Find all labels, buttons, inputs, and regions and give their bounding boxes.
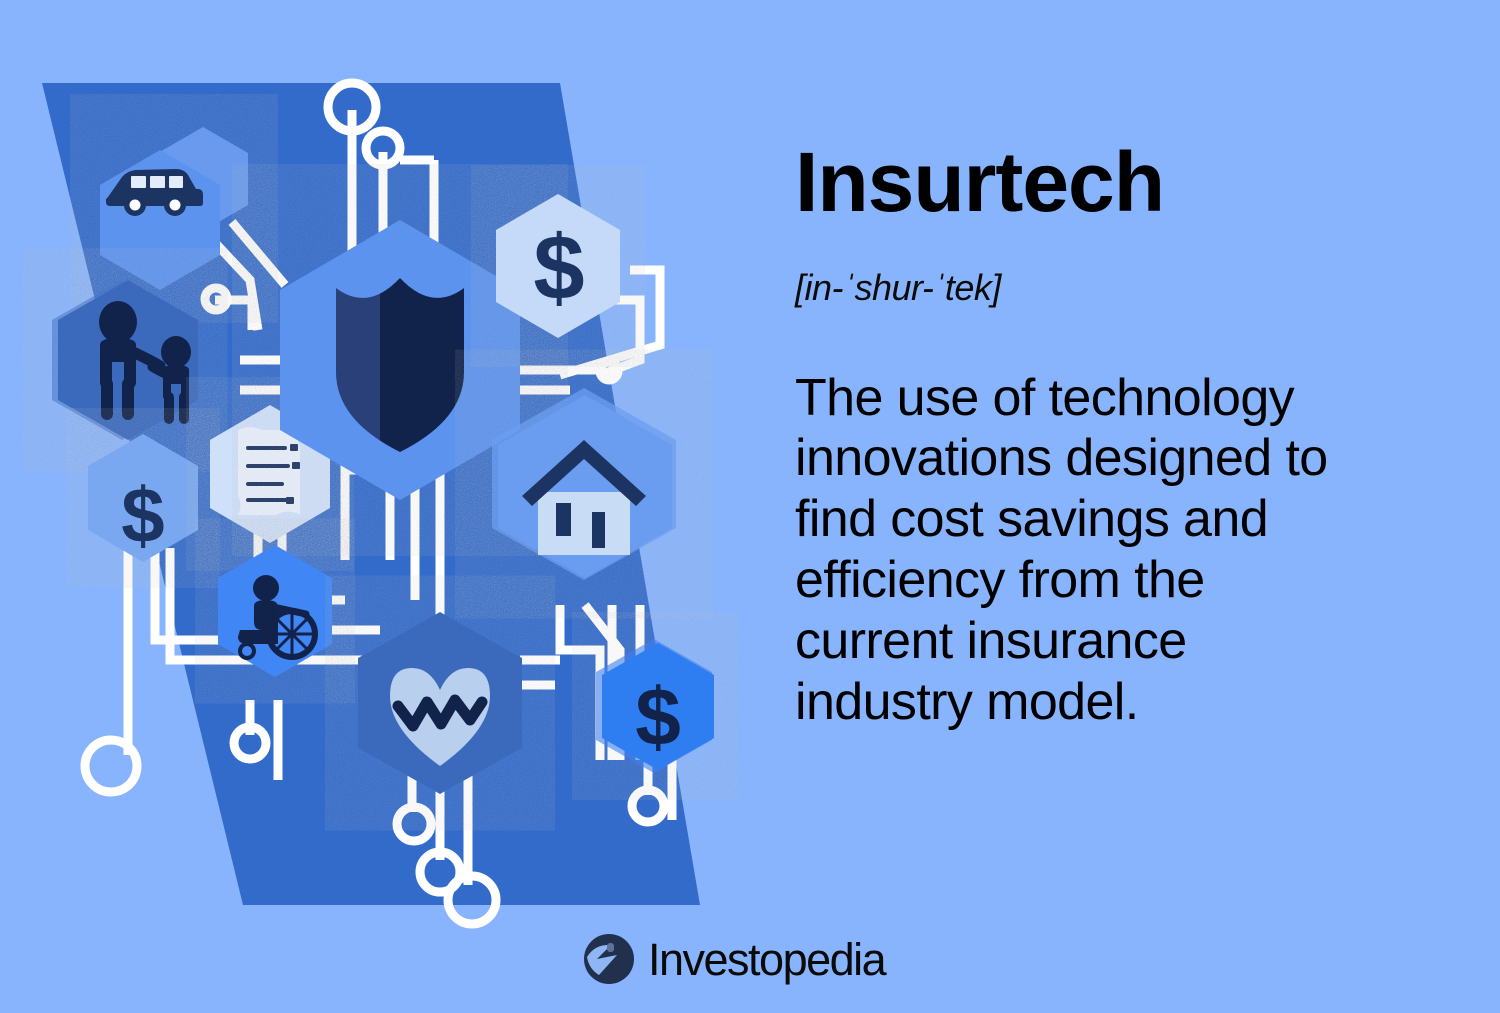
page-title: Insurtech [795,140,1395,224]
dollar-icon-left: $ [121,471,164,559]
investopedia-logo: Investopedia [583,933,885,985]
insurtech-definition-card: $ [0,0,1500,1013]
illustration-area: $ [0,0,760,1013]
pronunciation: [in-ˈshur-ˈtek] [795,268,1395,308]
document-icon [238,427,300,515]
svg-text:$: $ [635,672,681,763]
svg-text:$: $ [121,471,164,559]
svg-text:$: $ [533,217,584,319]
logo-wordmark: Investopedia [648,937,885,982]
definition-text-column: Insurtech [in-ˈshur-ˈtek] The use of tec… [795,140,1395,785]
investopedia-logo-icon [583,933,635,985]
dollar-icon-top: $ [533,217,584,319]
dollar-icon-bottom: $ [635,672,681,763]
definition-text: The use of technology innovations design… [795,368,1355,733]
